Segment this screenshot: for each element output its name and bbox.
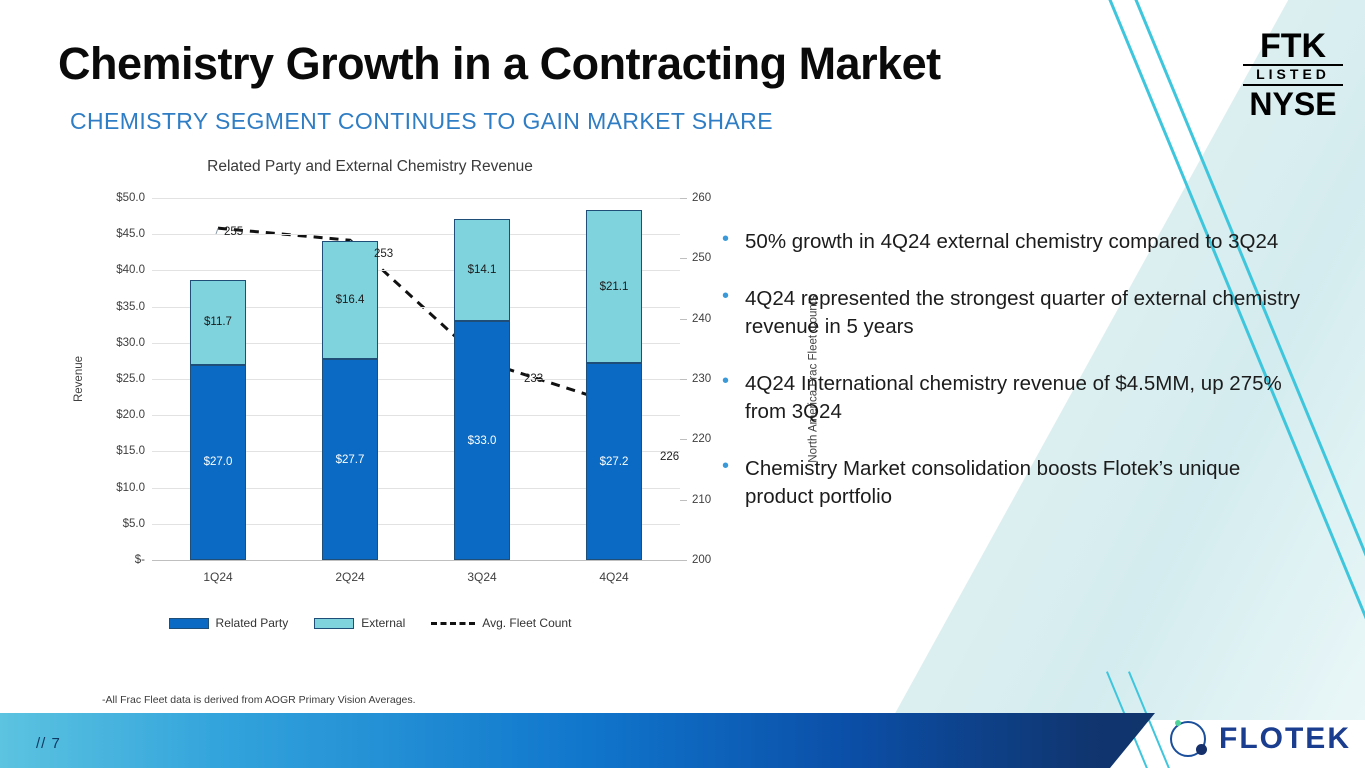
y-axis-tick-label: $35.0 <box>116 301 145 313</box>
legend-label: Avg. Fleet Count <box>482 616 571 630</box>
ftk-listed-label: LISTED <box>1243 64 1343 86</box>
legend-label: External <box>361 616 405 630</box>
bar-value-label: $16.4 <box>336 294 365 306</box>
chart-plot-area: Revenue North America Frac Fleet Counts … <box>152 198 680 560</box>
y-axis-title: Revenue <box>73 356 85 402</box>
y2-axis-tick <box>680 258 687 259</box>
bar-segment-related-party[interactable]: $27.2 <box>586 363 642 560</box>
bar-column[interactable]: $27.0$11.7 <box>190 198 246 560</box>
bar-column[interactable]: $27.2$21.1 <box>586 198 642 560</box>
bar-segment-external[interactable]: $14.1 <box>454 219 510 321</box>
chart-footnote: -All Frac Fleet data is derived from AOG… <box>102 694 416 706</box>
y2-axis-tick-label: 240 <box>692 313 711 325</box>
chart-title: Related Party and External Chemistry Rev… <box>40 158 700 176</box>
legend-label: Related Party <box>216 616 289 630</box>
bullet-dot-icon: • <box>722 455 729 511</box>
y-gridline <box>152 560 680 561</box>
bar-value-label: $21.1 <box>600 281 629 293</box>
bar-value-label: $11.7 <box>204 316 232 328</box>
list-item: •50% growth in 4Q24 external chemistry c… <box>722 228 1302 256</box>
legend-item[interactable]: Related Party <box>169 616 289 630</box>
x-axis-tick-label: 3Q24 <box>454 570 510 584</box>
ftk-nyse-logo: FTK LISTED NYSE <box>1243 30 1343 120</box>
y-axis-tick-label: $10.0 <box>116 482 145 494</box>
legend-swatch-icon <box>169 618 209 629</box>
y2-axis-tick-label: 220 <box>692 433 711 445</box>
legend-item[interactable]: External <box>314 616 405 630</box>
list-item: •Chemistry Market consolidation boosts F… <box>722 455 1302 511</box>
bar-value-label: $27.2 <box>600 456 629 468</box>
y-axis-tick-label: $50.0 <box>116 192 145 204</box>
list-item: •4Q24 International chemistry revenue of… <box>722 370 1302 426</box>
bar-value-label: $33.0 <box>468 435 497 447</box>
y-axis-tick-label: $- <box>135 554 145 566</box>
bullet-dot-icon: • <box>722 285 729 341</box>
page-subtitle: CHEMISTRY SEGMENT CONTINUES TO GAIN MARK… <box>70 108 773 135</box>
bar-segment-related-party[interactable]: $27.7 <box>322 359 378 560</box>
list-item: •4Q24 represented the strongest quarter … <box>722 285 1302 341</box>
ftk-exchange-label: NYSE <box>1243 88 1343 121</box>
bar-value-label: $27.0 <box>204 456 233 468</box>
bar-segment-related-party[interactable]: $27.0 <box>190 365 246 560</box>
y2-axis-tick <box>680 439 687 440</box>
x-axis-tick-label: 4Q24 <box>586 570 642 584</box>
y-axis-tick-label: $30.0 <box>116 337 145 349</box>
bar-segment-related-party[interactable]: $33.0 <box>454 321 510 560</box>
bar-value-label: $27.7 <box>336 454 365 466</box>
ftk-ticker: FTK <box>1243 30 1343 62</box>
flotek-logo: FLOTEK <box>1167 718 1351 760</box>
bullet-dot-icon: • <box>722 370 729 426</box>
x-axis-tick-label: 1Q24 <box>190 570 246 584</box>
y2-axis-tick <box>680 560 687 561</box>
fleet-count-data-label: 233 <box>524 373 543 385</box>
y2-axis-tick-label: 200 <box>692 554 711 566</box>
footer-bar <box>0 713 1365 768</box>
y2-axis-tick-label: 210 <box>692 494 711 506</box>
bullet-list: •50% growth in 4Q24 external chemistry c… <box>722 228 1302 541</box>
chart-legend: Related PartyExternalAvg. Fleet Count <box>40 616 700 630</box>
y-axis-tick-label: $25.0 <box>116 373 145 385</box>
flotek-navy-dot-icon <box>1196 744 1207 755</box>
flotek-green-dot-icon <box>1175 720 1181 726</box>
chart-container: Related Party and External Chemistry Rev… <box>40 158 700 668</box>
fleet-count-data-label: 226 <box>660 451 679 463</box>
flotek-circle-icon <box>1167 718 1209 760</box>
y2-axis-tick <box>680 319 687 320</box>
bullet-text: 4Q24 represented the strongest quarter o… <box>745 285 1302 341</box>
fleet-count-data-label: 255 <box>224 226 243 238</box>
y-axis-tick-label: $40.0 <box>116 264 145 276</box>
bullet-text: 50% growth in 4Q24 external chemistry co… <box>745 228 1278 256</box>
bar-value-label: $14.1 <box>468 264 497 276</box>
page-title: Chemistry Growth in a Contracting Market <box>58 38 941 90</box>
y2-axis-tick-label: 230 <box>692 373 711 385</box>
bullet-dot-icon: • <box>722 228 729 256</box>
legend-swatch-icon <box>431 622 475 625</box>
y-axis-tick-label: $45.0 <box>116 228 145 240</box>
y2-axis-tick <box>680 500 687 501</box>
y-axis-tick-label: $5.0 <box>123 518 145 530</box>
bullet-text: 4Q24 International chemistry revenue of … <box>745 370 1302 426</box>
y-axis-tick-label: $20.0 <box>116 409 145 421</box>
bar-column[interactable]: $27.7$16.4 <box>322 198 378 560</box>
y2-axis-tick-label: 260 <box>692 192 711 204</box>
flotek-wordmark: FLOTEK <box>1219 722 1351 756</box>
bar-column[interactable]: $33.0$14.1 <box>454 198 510 560</box>
x-axis-tick-label: 2Q24 <box>322 570 378 584</box>
legend-item[interactable]: Avg. Fleet Count <box>431 616 571 630</box>
y2-axis-tick <box>680 379 687 380</box>
bar-segment-external[interactable]: $11.7 <box>190 280 246 365</box>
bar-segment-external[interactable]: $21.1 <box>586 210 642 363</box>
y-axis-tick-label: $15.0 <box>116 445 145 457</box>
legend-swatch-icon <box>314 618 354 629</box>
page-number: // 7 <box>36 735 61 752</box>
bullet-text: Chemistry Market consolidation boosts Fl… <box>745 455 1302 511</box>
y2-axis-tick <box>680 198 687 199</box>
slide: Chemistry Growth in a Contracting Market… <box>0 0 1365 768</box>
fleet-count-data-label: 253 <box>374 248 393 260</box>
bar-segment-external[interactable]: $16.4 <box>322 241 378 360</box>
y2-axis-tick-label: 250 <box>692 252 711 264</box>
